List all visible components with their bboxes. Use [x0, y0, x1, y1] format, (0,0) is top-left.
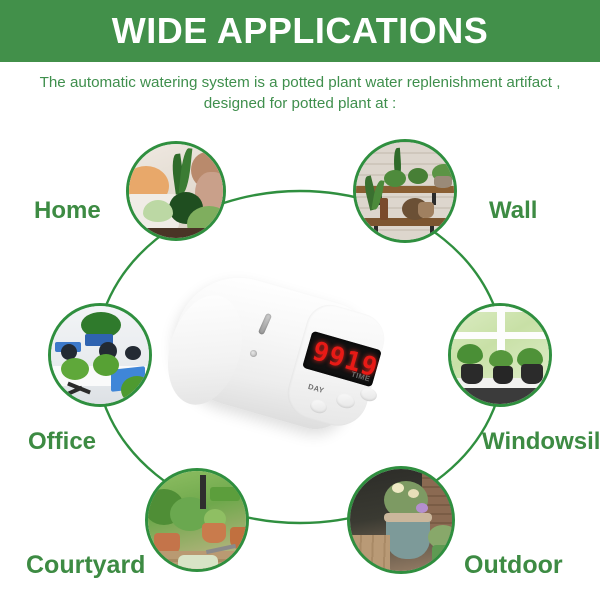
application-circle-home[interactable]: [126, 141, 226, 241]
label-office: Office: [28, 430, 96, 454]
device-indicator-dot: [250, 350, 257, 357]
scene-courtyard: [148, 471, 246, 569]
scene-wall: [356, 142, 454, 240]
application-circle-office[interactable]: [48, 303, 152, 407]
scene-windowsill: [451, 306, 549, 404]
label-wall: Wall: [489, 199, 537, 223]
label-home: Home: [34, 199, 101, 223]
application-circle-outdoor[interactable]: [347, 466, 455, 574]
scene-office: [51, 306, 149, 404]
application-circle-wall[interactable]: [353, 139, 457, 243]
watering-timer-device[interactable]: 9919 DAY TIME: [168, 272, 388, 458]
infographic-page: WIDE APPLICATIONS The automatic watering…: [0, 0, 600, 600]
application-circle-courtyard[interactable]: [145, 468, 249, 572]
application-circle-windowsill[interactable]: [448, 303, 552, 407]
label-windowsill: Windowsill: [482, 430, 600, 454]
scene-home: [129, 144, 223, 238]
label-outdoor: Outdoor: [464, 553, 563, 578]
scene-outdoor: [350, 469, 452, 571]
label-courtyard: Courtyard: [26, 553, 145, 578]
